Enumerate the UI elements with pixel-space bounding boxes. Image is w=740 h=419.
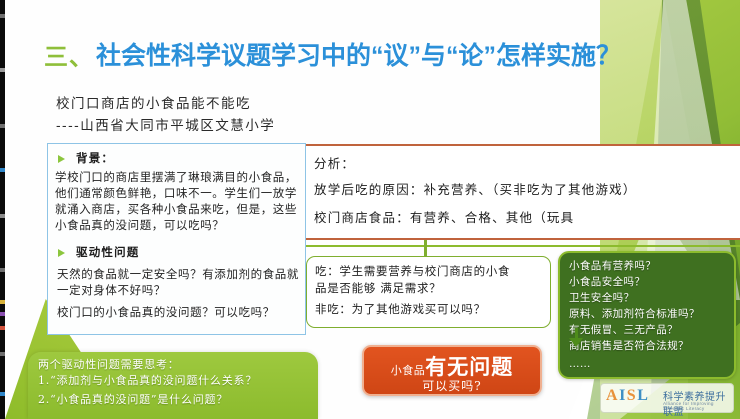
background-label: 背景： [76, 150, 114, 166]
conclusion-prefix: 小食品 [391, 364, 426, 377]
logo-letters: AISL [606, 387, 649, 405]
title-text: 社会性科学议题学习中的“议”与“论”怎样实施？ [96, 36, 621, 72]
banner-heading: 两个驱动性问题需要思考： [38, 357, 180, 374]
title-number: 三、 [44, 37, 94, 72]
page-title: 三、社会性科学议题学习中的“议”与“论”怎样实施？ [44, 36, 621, 72]
question-item: 原料、添加剂符合标准吗？ [569, 306, 700, 322]
banner-item-2: 2.“小食品真的没问题”是什么问题？ [38, 392, 228, 409]
question-item: 小食品安全吗？ [569, 274, 645, 290]
logo-letter-i: I [619, 387, 627, 404]
question-item-ellipsis: …… [569, 356, 591, 372]
analysis-line-2: 放学后吃的原因：补充营养、（买非吃为了其他游戏） [314, 176, 637, 204]
driving-question-label: 驱动性问题 [76, 244, 140, 260]
sub-questions-box: 小食品有营养吗？ 小食品安全吗？ 卫生安全吗？ 原料、添加剂符合标准吗？ 有无假… [558, 251, 736, 379]
driving-question-body-2: 校门口的小食品真的没问题？可以吃吗？ [57, 304, 301, 320]
logo-letter-a: A [606, 387, 619, 404]
conclusion-box: 小食品有无问题 可以买吗? [362, 345, 542, 396]
question-item: 商店销售是否符合法规？ [569, 338, 689, 354]
logo-letter-l: L [637, 387, 649, 404]
banner-item-1: 1.“添加剂与小食品真的没问题什么关系？ [38, 373, 257, 390]
aisl-logo: AISL 科学素养提升联盟 Alliance for Improving Sci… [600, 383, 734, 413]
presentation-slide: 三、社会性科学议题学习中的“议”与“论”怎样实施？ 校门口商店的小食品能不能吃 … [0, 0, 740, 419]
conclusion-line-2: 可以买吗? [364, 377, 540, 394]
background-body: 学校门口的商店里摆满了琳琅满目的小食品，他们通常颜色鲜艳，口味不一。学生们一放学… [55, 169, 301, 233]
eat-or-not-box: 吃：学生需要营养与校门商店的小食 品是否能够 满足需求？ 非吃：为了其他游戏买可… [306, 256, 551, 328]
triangle-bullet-icon-2 [58, 249, 65, 257]
mid-box-line-2: 品是否能够 满足需求？ [315, 279, 441, 298]
logo-letter-s: S [627, 387, 637, 404]
logo-english-name: Alliance for Improving Scientific Litera… [663, 401, 733, 411]
subtitle-line-2: ----山西省大同市平城区文慧小学 [56, 114, 275, 134]
question-item: 卫生安全吗？ [569, 290, 634, 306]
analysis-bottom-rule [306, 245, 740, 247]
conclusion-emphasis: 有无问题 [425, 354, 513, 379]
background-and-driving-question-box: 背景： 学校门口的商店里摆满了琳琅满目的小食品，他们通常颜色鲜艳，口味不一。学生… [47, 143, 306, 335]
question-item: 小食品有营养吗？ [569, 258, 656, 274]
arrow-down-icon [569, 338, 583, 347]
film-strip-edge [0, 0, 5, 419]
triangle-bullet-icon [58, 155, 65, 163]
subtitle-line-1: 校门口商店的小食品能不能吃 [56, 92, 251, 112]
analysis-line-3: 校门商店食品：有营养、合格、其他（玩具 [314, 204, 574, 232]
analysis-line-1: 分析： [314, 150, 355, 178]
reflection-banner: 两个驱动性问题需要思考： 1.“添加剂与小食品真的没问题什么关系？ 2.“小食品… [28, 352, 318, 419]
connector-vertical-top [424, 240, 427, 257]
question-item: 有无假冒、三无产品？ [569, 322, 678, 338]
analysis-panel: 分析： 放学后吃的原因：补充营养、（买非吃为了其他游戏） 校门商店食品：有营养、… [306, 144, 740, 240]
driving-question-body-1: 天然的食品就一定安全吗？有添加剂的食品就一定对身体不好吗？ [57, 266, 301, 298]
mid-box-line-3: 非吃：为了其他游戏买可以吗？ [315, 300, 486, 319]
